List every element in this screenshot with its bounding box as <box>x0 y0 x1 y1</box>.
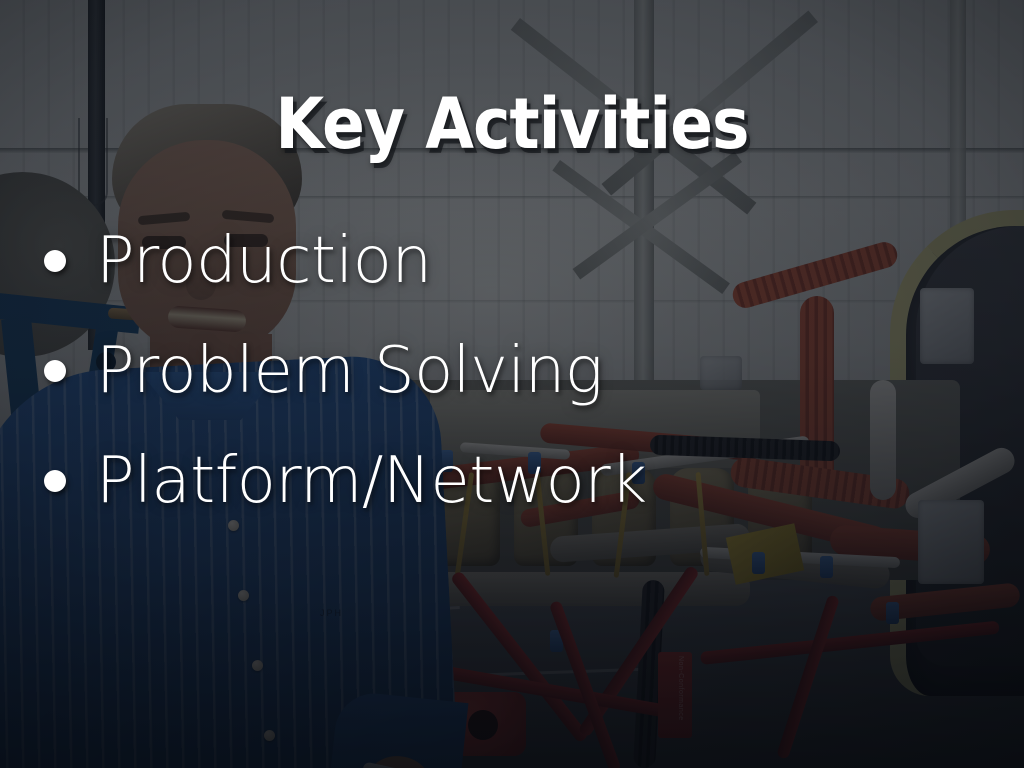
bullet-item-production: Production <box>34 206 734 316</box>
shirt-monogram: JPH <box>320 608 343 618</box>
engine-conduit <box>870 380 896 500</box>
bullet-item-platform-network: Platform/Network <box>34 426 734 536</box>
hose-clamp <box>752 552 765 574</box>
bullet-list: Production Problem Solving Platform/Netw… <box>34 206 734 536</box>
hose-clamp <box>886 602 899 624</box>
bullet-label: Problem Solving <box>96 339 603 403</box>
shirt-button <box>252 660 263 671</box>
engine-alloy-box <box>920 288 974 364</box>
bullet-dot-icon <box>44 360 66 382</box>
bullet-label: Production <box>96 229 432 293</box>
bullet-item-problem-solving: Problem Solving <box>34 316 734 426</box>
engine-mount-tube <box>776 594 840 759</box>
bullet-label: Platform/Network <box>96 449 647 513</box>
hose-clamp <box>820 556 833 578</box>
engine-alloy-box <box>918 500 984 584</box>
shirt-button <box>264 730 275 741</box>
bullet-dot-icon <box>44 250 66 272</box>
engine-warning-tag: Non-Conformance <box>658 652 692 738</box>
presentation-slide: Non-Conformance JPH <box>0 0 1024 768</box>
bullet-dot-icon <box>44 470 66 492</box>
engine-warning-tag-text: Non-Conformance <box>677 656 684 664</box>
slide-title: Key Activities <box>51 89 973 159</box>
shirt-button <box>238 590 249 601</box>
